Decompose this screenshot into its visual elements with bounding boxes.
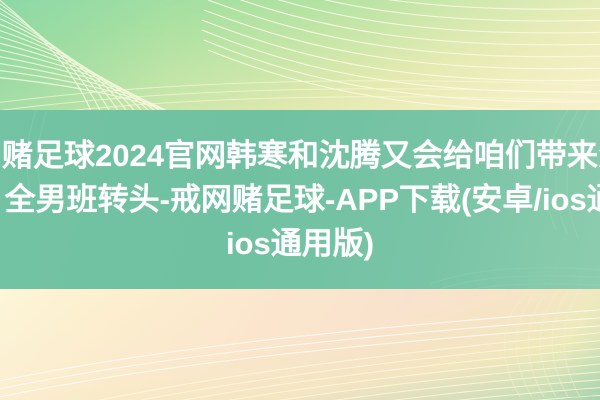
bottom-decorative-gradient-band	[0, 289, 600, 400]
bottom-wave-line-pattern	[0, 289, 600, 400]
top-decorative-gradient-band	[0, 0, 600, 111]
green-title-band	[0, 110, 600, 289]
top-arc-line-pattern	[0, 0, 600, 111]
decorative-banner-image: 戒网赌足球2024官网韩寒和沈腾又会给咱们带来怎惊喜？全男班转头-戒网赌足球-A…	[0, 0, 600, 400]
mid-band-arc-pattern	[0, 110, 600, 289]
